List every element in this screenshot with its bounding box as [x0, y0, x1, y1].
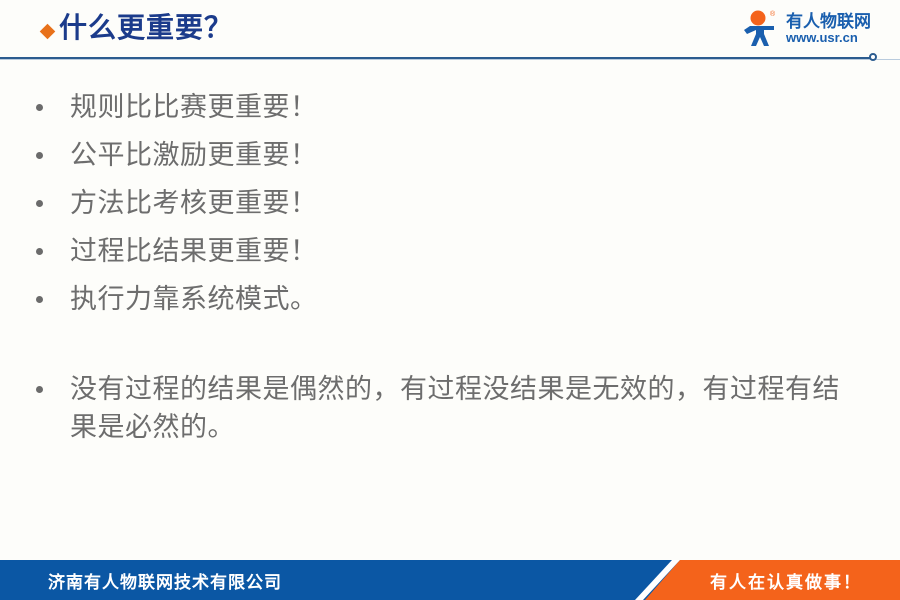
- list-item: 方法比考核更重要！: [36, 184, 866, 222]
- svg-text:有人物联网: 有人物联网: [786, 11, 871, 31]
- bullet-dot-icon: [36, 200, 43, 207]
- footer-company-name: 济南有人物联网技术有限公司: [48, 560, 282, 600]
- list-item-text: 执行力靠系统模式。: [70, 280, 318, 318]
- bullet-dot-icon: [36, 296, 43, 303]
- slide-canvas: 什么更重要？ ® 有人物联网 www.usr.cn: [0, 0, 900, 600]
- list-item: 公平比激励更重要！: [36, 136, 866, 174]
- bullet-dot-icon: [36, 152, 43, 159]
- list-item-text: 过程比结果更重要！: [70, 232, 318, 270]
- bullet-dot-icon: [36, 104, 43, 111]
- list-item: 规则比比赛更重要！: [36, 88, 866, 126]
- slide-header: 什么更重要？ ® 有人物联网 www.usr.cn: [0, 0, 900, 62]
- svg-text:®: ®: [770, 10, 776, 18]
- bullet-dot-icon: [36, 248, 43, 255]
- footer-slogan: 有人在认真做事！: [672, 560, 900, 600]
- list-item: 过程比结果更重要！: [36, 232, 866, 270]
- list-item: 没有过程的结果是偶然的，有过程没结果是无效的，有过程有结果是必然的。: [36, 370, 866, 446]
- svg-text:www.usr.cn: www.usr.cn: [785, 30, 858, 45]
- list-item-text: 公平比激励更重要！: [70, 136, 318, 174]
- diamond-bullet-icon: [40, 24, 56, 40]
- brand-logo: ® 有人物联网 www.usr.cn: [734, 8, 884, 50]
- list-item-text: 没有过程的结果是偶然的，有过程没结果是无效的，有过程有结果是必然的。: [70, 370, 840, 446]
- bullet-list: 规则比比赛更重要！ 公平比激励更重要！ 方法比考核更重要！ 过程比结果更重要！ …: [36, 88, 866, 456]
- header-divider-end-dot-icon: [869, 53, 877, 61]
- list-item-text: 方法比考核更重要！: [70, 184, 318, 222]
- person-figure-icon: ®: [744, 10, 776, 46]
- page-title: 什么更重要？: [42, 14, 233, 45]
- list-item-text: 规则比比赛更重要！: [70, 88, 318, 126]
- bullet-dot-icon: [36, 386, 43, 393]
- header-divider-line-soft: [0, 59, 900, 60]
- slide-footer: 济南有人物联网技术有限公司 有人在认真做事！: [0, 560, 900, 600]
- list-item: 执行力靠系统模式。: [36, 280, 866, 318]
- brand-name-text: 有人物联网: [786, 11, 871, 31]
- brand-website-text: www.usr.cn: [785, 30, 858, 45]
- page-title-text: 什么更重要？: [59, 14, 233, 45]
